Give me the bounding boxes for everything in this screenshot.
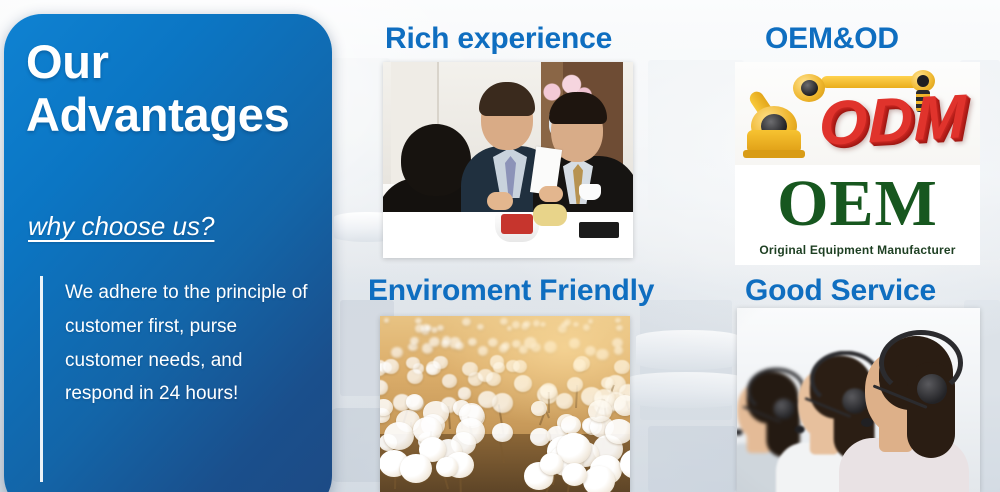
robot-arm-elbow-joint-icon [801, 80, 818, 96]
photo-enviroment-friendly [380, 316, 630, 492]
meeting-hand [487, 192, 513, 210]
heading-rich-experience: Rich experience [385, 22, 612, 56]
meeting-food-container [501, 214, 533, 234]
oem-wordmark: OEM [735, 171, 980, 237]
odm-top-panel: ODM [735, 62, 980, 166]
our-advantages-banner: Our Advantages why choose us? We adhere … [0, 0, 1000, 492]
heading-enviroment-friendly: Enviroment Friendly [368, 274, 654, 308]
robot-arm-base-icon [747, 130, 801, 152]
meeting-phone [579, 222, 619, 238]
service-vignette [737, 308, 980, 492]
robot-arm-foot-icon [743, 150, 805, 158]
cotton-vignette [380, 316, 630, 492]
panel-body-text: We adhere to the principle of customer f… [65, 276, 308, 411]
odm-wordmark: ODM [819, 86, 967, 156]
heading-good-service: Good Service [745, 274, 936, 308]
page-title-line-2: Advantages [26, 89, 326, 142]
panel-subtitle: why choose us? [28, 211, 214, 242]
meeting-hand [539, 186, 563, 202]
photo-oem-od: ODM OEM Original Equipment Manufacturer [735, 62, 980, 265]
oem-card: OEM Original Equipment Manufacturer [735, 165, 980, 265]
heading-oem-od: OEM&OD [765, 22, 899, 56]
page-title-line-1: Our [26, 35, 109, 88]
panel-quote-block: We adhere to the principle of customer f… [40, 276, 308, 482]
meeting-food [533, 204, 567, 226]
meeting-cup [579, 184, 601, 200]
photo-rich-experience [383, 62, 633, 258]
page-title: Our Advantages [26, 36, 326, 141]
oem-caption: Original Equipment Manufacturer [735, 243, 980, 257]
advantages-panel: Our Advantages why choose us? We adhere … [4, 14, 332, 492]
photo-good-service [737, 308, 980, 492]
